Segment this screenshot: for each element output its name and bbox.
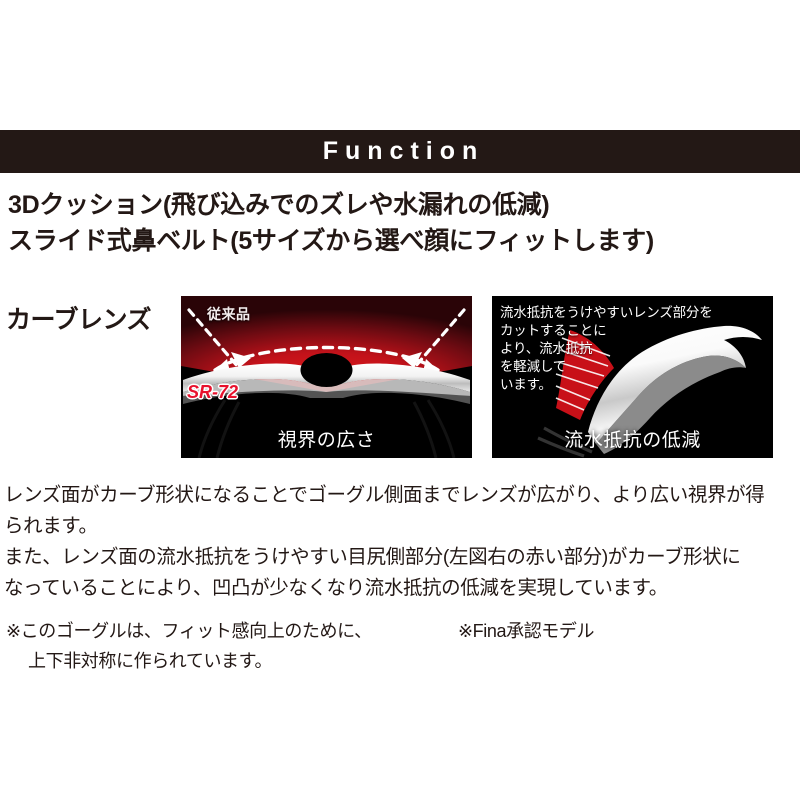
paragraph-2-line-2: なっていることにより、凹凸が少なくなり流水抵抗の低減を実現しています。	[4, 573, 796, 604]
product-feature-page: Function 3Dクッション(飛び込みでのズレや水漏れの低減) スライド式鼻…	[0, 0, 800, 800]
paragraph-2-line-1: また、レンズ面の流水抵抗をうけやすい目尻側部分(左図右の赤い部分)がカーブ形状に	[4, 542, 796, 573]
paragraph-1-line-1: レンズ面がカーブ形状になることでゴーグル側面までレンズが広がり、より広い視界が得	[4, 480, 796, 511]
water-resistance-note: 流水抵抗をうけやすいレンズ部分を カットすることに より、流水抵抗 を軽減して …	[500, 304, 680, 394]
curve-lens-label: カーブレンズ	[6, 300, 151, 336]
footnote-row-1: ※このゴーグルは、フィット感向上のために、 ※Fina承認モデル	[6, 618, 796, 648]
feature-headings: 3Dクッション(飛び込みでのズレや水漏れの低減) スライド式鼻ベルト(5サイズか…	[8, 188, 792, 259]
footnotes: ※このゴーグルは、フィット感向上のために、 ※Fina承認モデル 上下非対称に作…	[6, 618, 796, 675]
note-line-1: 流水抵抗をうけやすいレンズ部分を	[500, 304, 680, 322]
tag-model-sr72: SR-72	[187, 382, 238, 403]
banner-title: Function	[316, 139, 485, 164]
note-line-2: カットすることに	[500, 322, 680, 340]
note-line-3: より、流水抵抗	[500, 340, 680, 358]
footnote-left-line-1: ※このゴーグルは、フィット感向上のために、	[6, 618, 796, 645]
heading-slide-nose-belt: スライド式鼻ベルト(5サイズから選べ顔にフィットします)	[8, 224, 792, 260]
footnote-left-line-2: 上下非対称に作られています。	[6, 648, 796, 675]
note-line-5: います。	[500, 376, 680, 394]
note-line-4: を軽減して	[500, 358, 680, 376]
footnote-fina-model: ※Fina承認モデル	[458, 618, 594, 645]
body-copy: レンズ面がカーブ形状になることでゴーグル側面までレンズが広がり、より広い視界が得…	[4, 480, 796, 604]
paragraph-1-line-2: られます。	[4, 511, 796, 542]
heading-3d-cushion: 3Dクッション(飛び込みでのズレや水漏れの低減)	[8, 188, 792, 224]
tag-conventional-product: 従来品	[207, 304, 251, 324]
panel-water-resistance: 流水抵抗をうけやすいレンズ部分を カットすることに より、流水抵抗 を軽減して …	[492, 296, 773, 458]
function-banner: Function	[0, 130, 800, 173]
panel-field-of-view: 従来品 SR-72 視界の広さ	[181, 296, 472, 458]
